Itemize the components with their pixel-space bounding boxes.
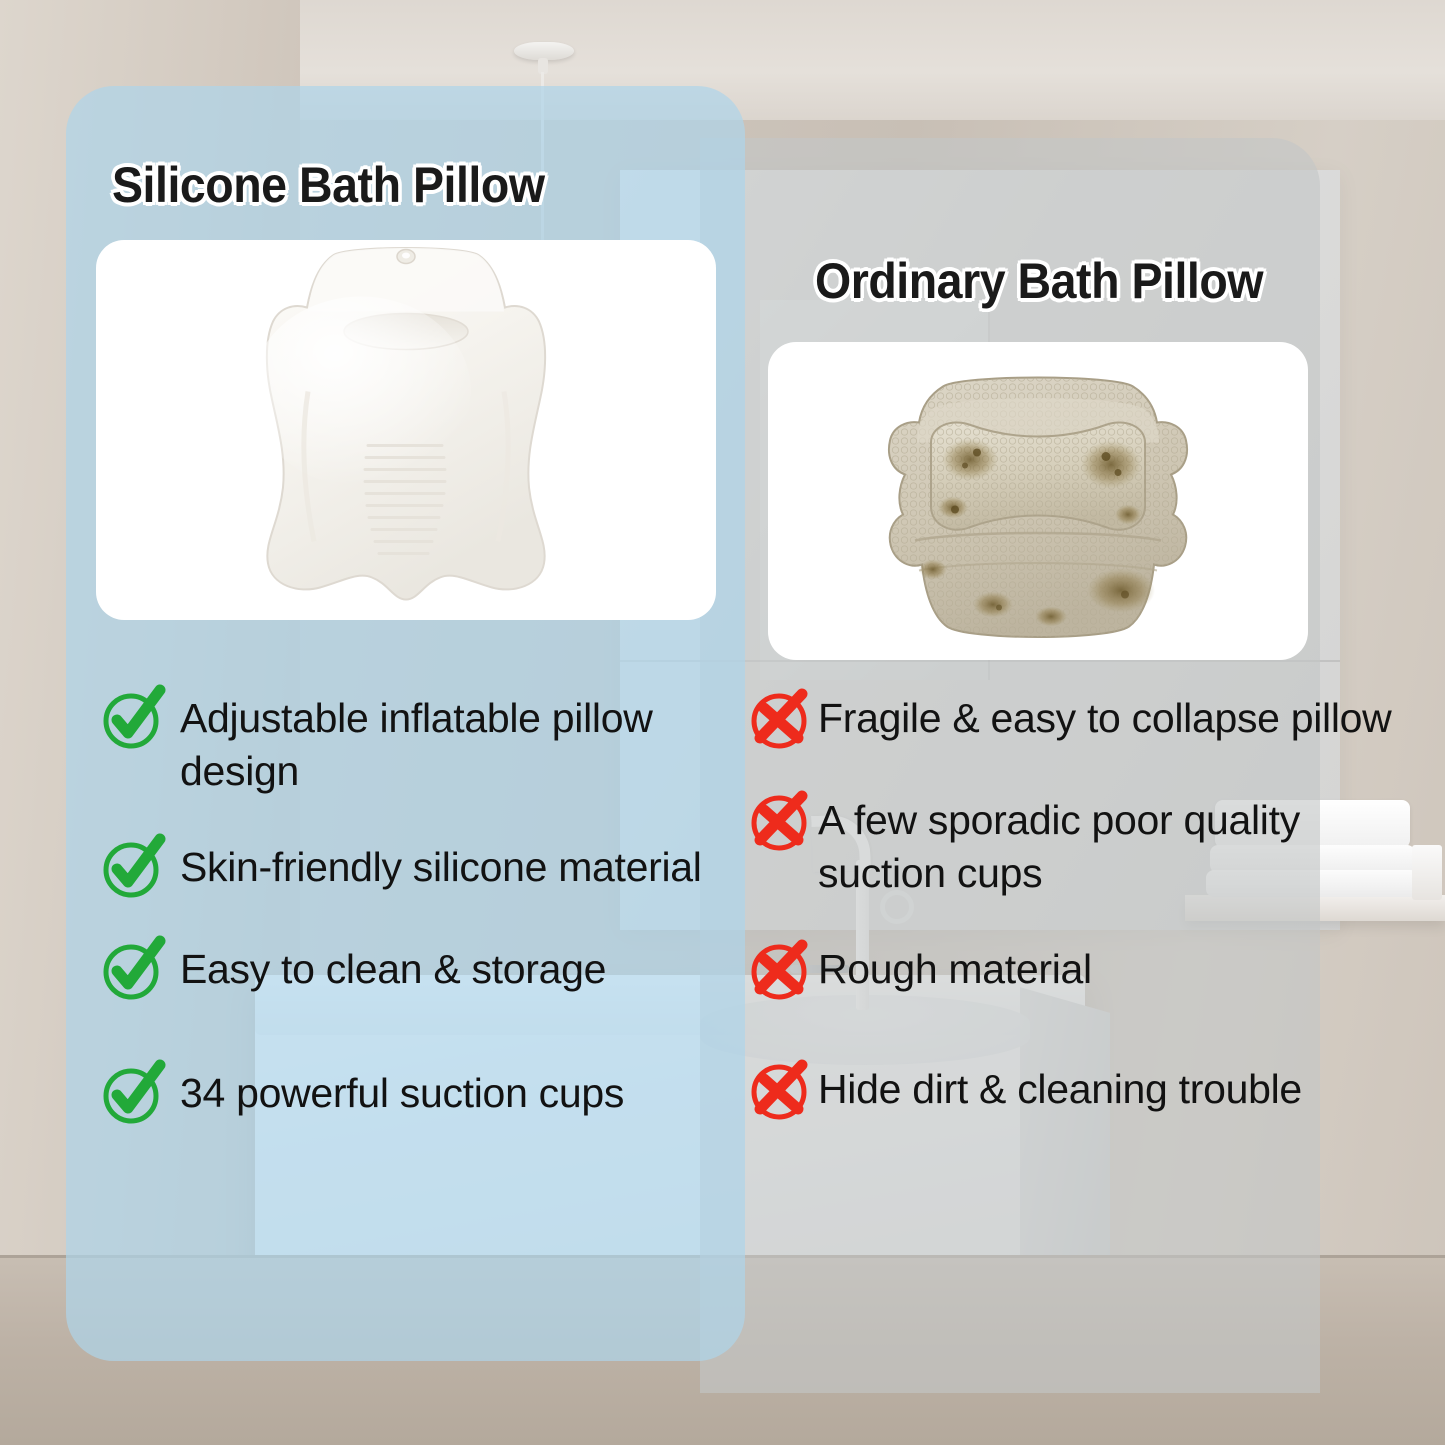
cross-circle-icon [748,1057,814,1123]
check-circle-icon [100,835,166,901]
feature-label: Hide dirt & cleaning trouble [818,1061,1302,1116]
feature-label: 34 powerful suction cups [180,1065,624,1120]
feature-item: Skin-friendly silicone material [100,839,740,901]
feature-item: A few sporadic poor quality suction cups [748,792,1408,901]
check-circle-icon [100,1061,166,1127]
feature-item: Easy to clean & storage [100,941,740,1003]
comparison-infographic: Silicone Bath Pillow Ordinary Bath Pillo… [0,0,1445,1445]
silicone-pillow-illustration [196,242,616,619]
silicone-panel-title: Silicone Bath Pillow [112,156,545,214]
ordinary-panel-title: Ordinary Bath Pillow [815,252,1263,310]
ordinary-feature-list: Fragile & easy to collapse pillow A few … [748,690,1408,1181]
check-circle-icon [100,686,166,752]
silicone-pillow-image-card [96,240,716,620]
feature-label: Fragile & easy to collapse pillow [818,690,1392,745]
check-circle-icon [100,937,166,1003]
ordinary-pillow-illustration [873,365,1203,650]
feature-item: Rough material [748,941,1408,1003]
feature-label: Adjustable inflatable pillow design [180,690,740,799]
amenity-bottle [1412,845,1442,900]
silicone-feature-list: Adjustable inflatable pillow design Skin… [100,690,740,1189]
cross-circle-icon [748,686,814,752]
feature-item: Adjustable inflatable pillow design [100,690,740,799]
feature-item: Fragile & easy to collapse pillow [748,690,1408,752]
ordinary-pillow-image-card [768,342,1308,660]
feature-item: Hide dirt & cleaning trouble [748,1061,1408,1123]
feature-item: 34 powerful suction cups [100,1065,740,1127]
feature-label: A few sporadic poor quality suction cups [818,792,1408,901]
cross-circle-icon [748,937,814,1003]
cross-circle-icon [748,788,814,854]
feature-label: Easy to clean & storage [180,941,606,996]
feature-label: Rough material [818,941,1092,996]
feature-label: Skin-friendly silicone material [180,839,702,894]
